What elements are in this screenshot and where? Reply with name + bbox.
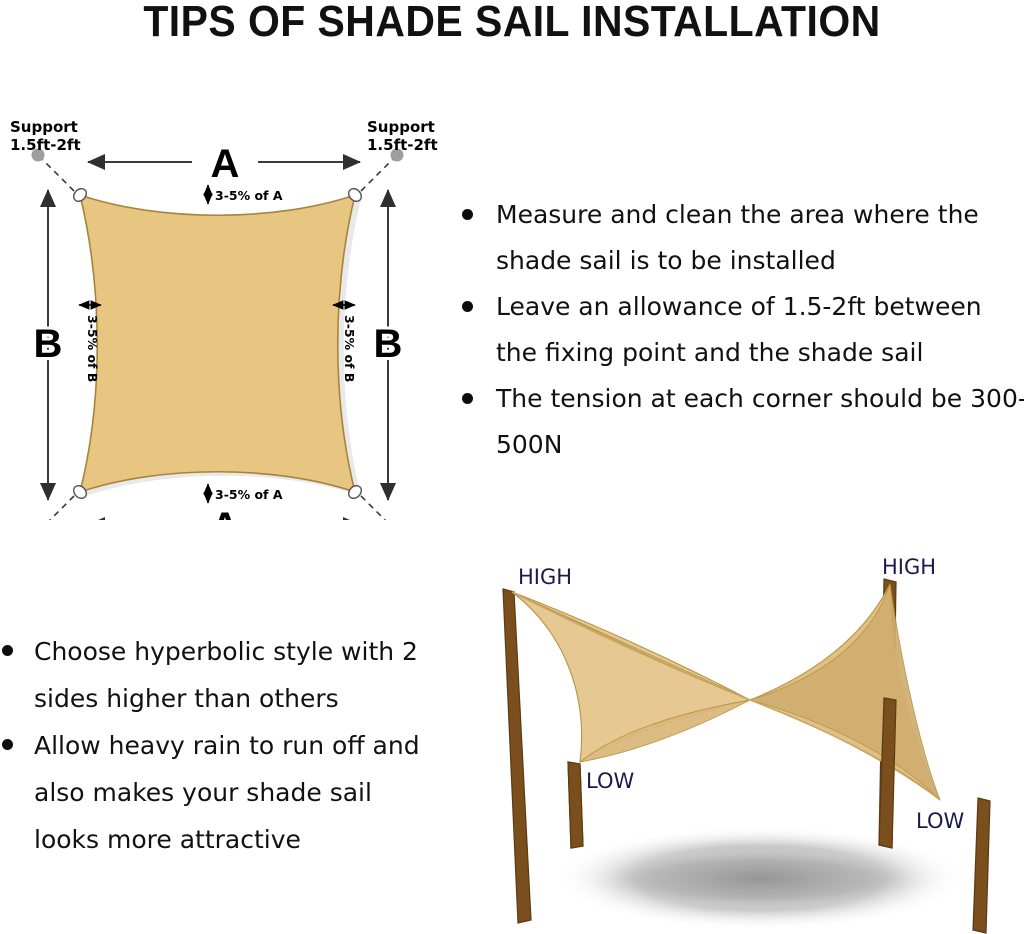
sag-label-left: 3-5% of B (85, 315, 100, 382)
list-item: The tension at each corner should be 300… (462, 376, 1024, 468)
rectangular-sail-diagram: A 3-5% of A A 3-5% of A B 3-5% of B B 3-… (0, 100, 470, 520)
support-line-top-left (41, 158, 74, 191)
list-item: Choose hyperbolic style with 2 sides hig… (2, 628, 442, 722)
dimension-label-right: B (374, 322, 403, 366)
list-item-text: Choose hyperbolic style with 2 sides hig… (34, 628, 442, 722)
list-item-text: The tension at each corner should be 300… (496, 376, 1024, 468)
ground-shadow-rect (575, 848, 945, 910)
installation-tips-bottom-list: Choose hyperbolic style with 2 sides hig… (2, 628, 442, 863)
dimension-label-top: A (211, 142, 240, 186)
bullet-dot-icon (462, 301, 473, 312)
corner-label-high-right: HIGH (882, 555, 936, 579)
list-item: Allow heavy rain to run off and also mak… (2, 722, 442, 863)
list-item: Measure and clean the area where the sha… (462, 192, 1024, 284)
corner-label-low-left: LOW (586, 769, 634, 793)
post-back-left (503, 589, 531, 923)
support-label-top-right-line1: Support (367, 118, 435, 136)
support-line-bottom-right (361, 496, 394, 520)
bullet-dot-icon (462, 209, 473, 220)
support-label-top-left-line2: 1.5ft-2ft (10, 136, 81, 154)
shade-sail-fabric (80, 195, 355, 492)
bullet-dot-icon (462, 393, 473, 404)
post-front-right (973, 798, 990, 933)
list-item: Leave an allowance of 1.5-2ft between th… (462, 284, 1024, 376)
list-item-text: Leave an allowance of 1.5-2ft between th… (496, 284, 1024, 376)
bullet-dot-icon (2, 739, 13, 750)
dimension-label-bottom: A (211, 505, 240, 520)
infographic-page: TIPS OF SHADE SAIL INSTALLATION (0, 0, 1024, 934)
sail-panel-right-lower (750, 584, 940, 800)
dimension-label-left: B (34, 322, 63, 366)
sag-label-top: 3-5% of A (215, 188, 283, 203)
installation-tips-top-list: Measure and clean the area where the sha… (462, 192, 1024, 468)
support-line-top-right (361, 158, 394, 191)
bullet-dot-icon (2, 645, 13, 656)
list-item-text: Measure and clean the area where the sha… (496, 192, 1024, 284)
corner-label-high-left: HIGH (518, 565, 572, 589)
support-label-top-left-line1: Support (10, 118, 78, 136)
corner-label-low-right: LOW (916, 809, 964, 833)
support-label-top-right-line2: 1.5ft-2ft (367, 136, 438, 154)
page-title: TIPS OF SHADE SAIL INSTALLATION (36, 0, 988, 48)
sag-label-right: 3-5% of B (342, 315, 357, 382)
support-line-bottom-left (41, 496, 74, 520)
post-front-left-overlay (568, 762, 583, 848)
list-item-text: Allow heavy rain to run off and also mak… (34, 722, 442, 863)
hyperbolic-sail-diagram: HIGH HIGH LOW LOW (470, 548, 1024, 934)
sag-label-bottom: 3-5% of A (215, 487, 283, 502)
